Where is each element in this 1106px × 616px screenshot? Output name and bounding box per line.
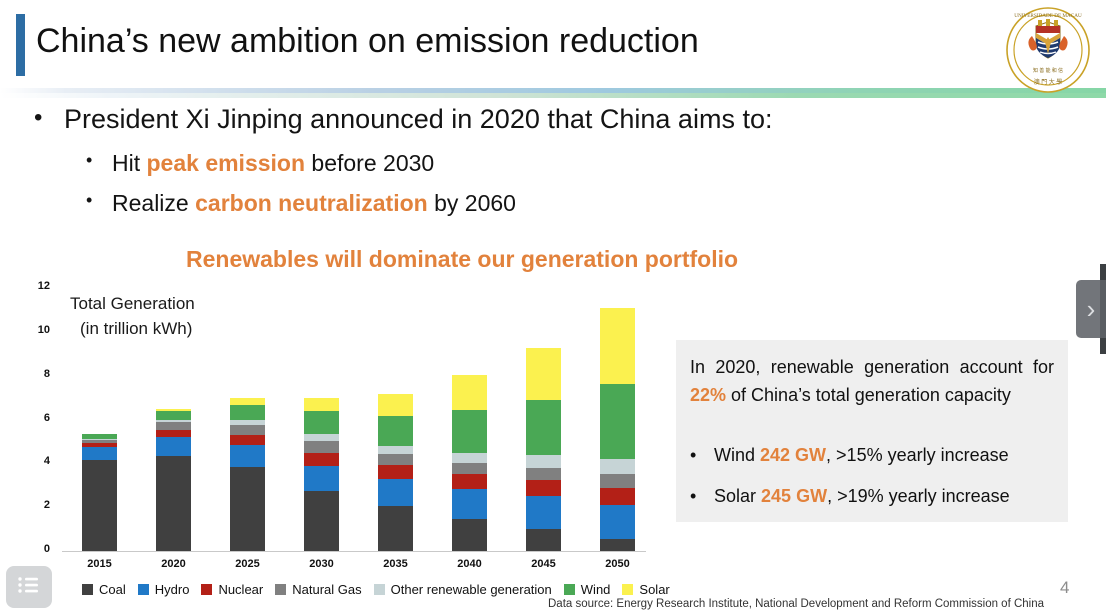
bar-segment-hydro (230, 445, 265, 467)
bar-segment-hydro (156, 437, 191, 456)
x-axis-tick-2035: 2035 (366, 558, 426, 570)
bar-segment-solar (452, 375, 487, 410)
bar-segment-coal (230, 467, 265, 551)
legend-label: Nuclear (218, 582, 263, 597)
bar-segment-natural-gas (600, 474, 635, 488)
y-axis-tick-4: 4 (26, 455, 50, 467)
bar-2015 (82, 0, 117, 551)
next-slide-button[interactable]: › (1076, 280, 1106, 338)
bar-segment-nuclear (600, 488, 635, 505)
bar-segment-hydro (600, 505, 635, 539)
legend-swatch (374, 584, 385, 595)
bar-2035 (378, 0, 413, 551)
bar-segment-coal (526, 529, 561, 551)
bar-segment-solar (526, 348, 561, 400)
bar-segment-natural-gas (452, 463, 487, 474)
bar-segment-other-renewable-generation (452, 453, 487, 463)
bar-segment-solar (600, 308, 635, 384)
bar-segment-coal (82, 460, 117, 551)
y-axis-tick-0: 0 (26, 543, 50, 555)
bar-2045 (526, 0, 561, 551)
bar-segment-solar (304, 398, 339, 411)
callout-item-solar: •Solar 245 GW, >19% yearly increase (690, 486, 1058, 507)
bar-segment-coal (600, 539, 635, 551)
bullet-glyph: • (690, 486, 714, 507)
legend-swatch (622, 584, 633, 595)
callout-item-wind-highlight: 242 GW (760, 445, 826, 465)
bullet-glyph: • (690, 445, 714, 466)
bar-segment-wind (156, 411, 191, 420)
x-axis-tick-2020: 2020 (144, 558, 204, 570)
bar-2030 (304, 0, 339, 551)
callout-item-wind-pre: Wind (714, 445, 760, 465)
bar-segment-hydro (378, 479, 413, 506)
page-number: 4 (1060, 578, 1069, 598)
bar-segment-nuclear (230, 435, 265, 445)
callout-item-solar-post: , >19% yearly increase (827, 486, 1010, 506)
legend-item-other-renewable-generation: Other renewable generation (374, 582, 552, 597)
y-axis-tick-10: 10 (26, 324, 50, 336)
bar-segment-hydro (452, 489, 487, 520)
bar-segment-natural-gas (230, 425, 265, 435)
bar-segment-hydro (526, 496, 561, 529)
bar-segment-nuclear (526, 480, 561, 496)
callout-item-wind-post: , >15% yearly increase (826, 445, 1009, 465)
bar-segment-wind (230, 405, 265, 420)
legend-swatch (138, 584, 149, 595)
bar-segment-coal (304, 491, 339, 551)
legend-label: Other renewable generation (391, 582, 552, 597)
legend-item-hydro: Hydro (138, 582, 190, 597)
legend-item-natural-gas: Natural Gas (275, 582, 361, 597)
bar-segment-nuclear (378, 465, 413, 479)
university-logo: UNIVERSIDADE DE MACAU 知 善 能 和 信 澳 門 大 學 (1002, 6, 1094, 94)
list-icon (17, 576, 41, 599)
legend-label: Natural Gas (292, 582, 361, 597)
legend-item-wind: Wind (564, 582, 611, 597)
callout-paragraph-post: of China’s total generation capacity (726, 385, 1011, 405)
bar-segment-wind (378, 416, 413, 446)
bar-segment-other-renewable-generation (378, 446, 413, 454)
callout-item-solar-pre: Solar (714, 486, 761, 506)
bar-segment-hydro (304, 466, 339, 491)
legend-swatch (564, 584, 575, 595)
x-axis-tick-2025: 2025 (218, 558, 278, 570)
slide-menu-button[interactable] (6, 566, 52, 608)
bar-segment-nuclear (452, 474, 487, 488)
y-axis-tick-2: 2 (26, 499, 50, 511)
y-axis-tick-8: 8 (26, 368, 50, 380)
legend-swatch (275, 584, 286, 595)
bar-segment-wind (526, 400, 561, 456)
callout-item-wind: •Wind 242 GW, >15% yearly increase (690, 445, 1058, 466)
callout-paragraph-pre: In 2020, renewable generation account fo… (690, 357, 1054, 377)
bar-2040 (452, 0, 487, 551)
x-axis-tick-2015: 2015 (70, 558, 130, 570)
bar-segment-other-renewable-generation (304, 434, 339, 441)
bar-segment-nuclear (304, 453, 339, 466)
bar-segment-wind (304, 411, 339, 434)
bar-segment-wind (452, 410, 487, 453)
bullet-glyph: • (34, 104, 64, 132)
bar-segment-other-renewable-generation (526, 455, 561, 467)
svg-text:知 善 能 和 信: 知 善 能 和 信 (1033, 67, 1063, 74)
x-axis-tick-2050: 2050 (588, 558, 648, 570)
bar-segment-solar (230, 398, 265, 405)
bar-segment-coal (452, 519, 487, 551)
legend-item-nuclear: Nuclear (201, 582, 263, 597)
header-accent-bar (16, 14, 25, 76)
legend-swatch (201, 584, 212, 595)
bar-2025 (230, 0, 265, 551)
callout-paragraph: In 2020, renewable generation account fo… (690, 354, 1054, 410)
callout-paragraph-highlight: 22% (690, 385, 726, 405)
legend-item-solar: Solar (622, 582, 669, 597)
bar-segment-natural-gas (304, 441, 339, 453)
bar-segment-natural-gas (156, 422, 191, 430)
legend-label: Solar (639, 582, 669, 597)
chart-source-note: Data source: Energy Research Institute, … (548, 598, 1044, 610)
bar-segment-hydro (82, 447, 117, 460)
x-axis-tick-2045: 2045 (514, 558, 574, 570)
y-axis-tick-6: 6 (26, 412, 50, 424)
bar-segment-natural-gas (378, 454, 413, 465)
legend-label: Hydro (155, 582, 190, 597)
legend-swatch (82, 584, 93, 595)
legend-item-coal: Coal (82, 582, 126, 597)
chart-legend: CoalHydroNuclearNatural GasOther renewab… (82, 582, 682, 597)
legend-label: Wind (581, 582, 611, 597)
bar-segment-coal (378, 506, 413, 551)
legend-label: Coal (99, 582, 126, 597)
x-axis-tick-2030: 2030 (292, 558, 352, 570)
bar-segment-natural-gas (526, 468, 561, 481)
svg-text:UNIVERSIDADE DE MACAU: UNIVERSIDADE DE MACAU (1014, 13, 1082, 19)
bar-2050 (600, 0, 635, 551)
y-axis-tick-12: 12 (26, 280, 50, 292)
bar-2020 (156, 0, 191, 551)
slide: China’s new ambition on emission reducti… (0, 0, 1106, 616)
bar-segment-solar (378, 394, 413, 416)
bar-segment-wind (600, 384, 635, 460)
x-axis-tick-2040: 2040 (440, 558, 500, 570)
svg-text:澳 門 大 學: 澳 門 大 學 (1034, 78, 1063, 86)
callout-item-solar-highlight: 245 GW (761, 486, 827, 506)
chevron-right-icon: › (1087, 296, 1096, 322)
callout-box: In 2020, renewable generation account fo… (676, 340, 1068, 522)
chart-x-axis (62, 551, 646, 552)
bar-segment-coal (156, 456, 191, 551)
bar-segment-other-renewable-generation (600, 459, 635, 474)
bullet-sub-1-pre: Hit (112, 150, 147, 176)
bar-segment-nuclear (156, 430, 191, 437)
